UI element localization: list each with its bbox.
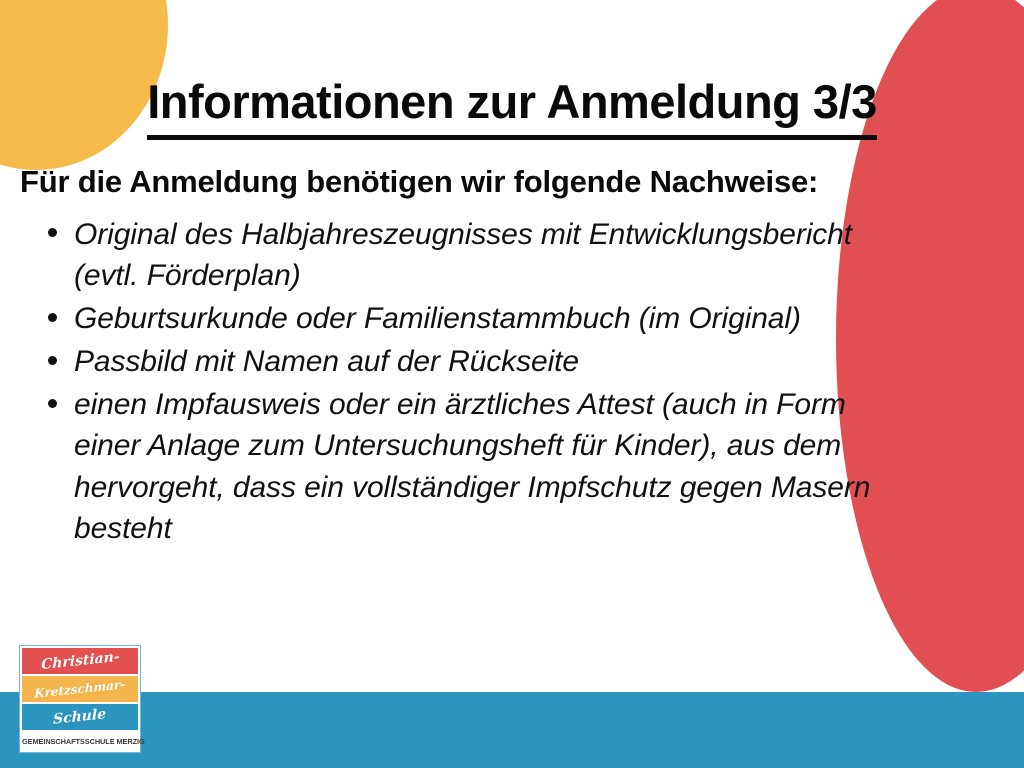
page-title-text: Informationen zur Anmeldung 3/3 (147, 74, 877, 140)
list-item-text: Original des Halbjahreszeugnisses mit En… (74, 218, 852, 292)
list-item: Geburtsurkunde oder Familienstammbuch (i… (40, 298, 920, 339)
list-item-text: einen Impfausweis oder ein ärztliches At… (74, 388, 870, 544)
list-item: Passbild mit Namen auf der Rückseite (40, 341, 920, 382)
slide: Informationen zur Anmeldung 3/3 Für die … (0, 0, 1024, 768)
logo-caption: GEMEINSCHAFTSSCHULE MERZIG (22, 732, 138, 750)
school-logo: Christian- Kretzschmar- Schule GEMEINSCH… (19, 645, 141, 753)
page-title: Informationen zur Anmeldung 3/3 (0, 74, 1024, 140)
list-item-text: Passbild mit Namen auf der Rückseite (74, 345, 579, 378)
logo-band-blue: Schule (22, 704, 138, 730)
list-item: einen Impfausweis oder ein ärztliches At… (40, 384, 920, 548)
bullet-dot-icon (48, 228, 57, 237)
logo-line-3: Schule (54, 706, 107, 728)
logo-line-2: Kretzschmar- (35, 677, 126, 701)
list-item-text: Geburtsurkunde oder Familienstammbuch (i… (74, 302, 801, 335)
bullet-dot-icon (48, 356, 57, 365)
logo-line-1: Christian- (41, 649, 119, 673)
requirements-list: Original des Halbjahreszeugnisses mit En… (40, 214, 920, 551)
bullet-dot-icon (48, 399, 57, 408)
list-item: Original des Halbjahreszeugnisses mit En… (40, 214, 920, 296)
slide-content: Informationen zur Anmeldung 3/3 Für die … (0, 0, 1024, 768)
subheading: Für die Anmeldung benötigen wir folgende… (20, 164, 818, 200)
logo-band-yellow: Kretzschmar- (22, 676, 138, 702)
bullet-dot-icon (48, 313, 57, 322)
logo-band-red: Christian- (22, 648, 138, 674)
